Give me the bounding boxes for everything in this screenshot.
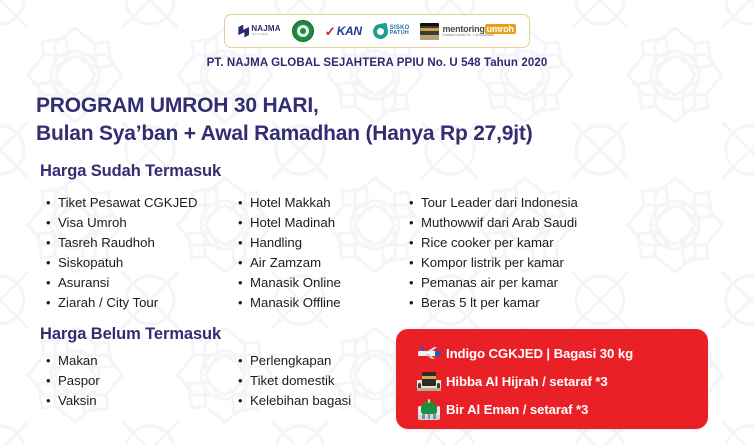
- list-item: Vaksin: [46, 391, 100, 411]
- siskopatuh-leaf-icon: [372, 22, 389, 39]
- highlight-row-makkah-hotel: Hibba Al Hijrah / setaraf *3: [396, 368, 708, 394]
- list-item: Air Zamzam: [238, 253, 341, 273]
- siskopatuh-line2: PATUH: [390, 31, 410, 37]
- list-item: Perlengkapan: [238, 351, 351, 371]
- included-column-3: Tour Leader dari Indonesia Muthowwif dar…: [409, 193, 578, 313]
- list-item: Visa Umroh: [46, 213, 198, 233]
- najma-logo: NAJMA Tour & Travel: [238, 19, 280, 43]
- list-item: Kelebihan bagasi: [238, 391, 351, 411]
- list-item: Manasik Online: [238, 273, 341, 293]
- kan-check-icon: ✓: [325, 25, 336, 38]
- kaaba-logo-icon: [420, 23, 439, 40]
- kemenag-logo: [292, 19, 314, 43]
- list-item: Beras 5 lt per kamar: [409, 293, 578, 313]
- list-item: Pemanas air per kamar: [409, 273, 578, 293]
- flyer-page: NAJMA Tour & Travel ✓ KAN SISKO PATUH: [0, 0, 754, 445]
- list-item: Muthowwif dari Arab Saudi: [409, 213, 578, 233]
- included-column-1: Tiket Pesawat CGKJED Visa Umroh Tasreh R…: [46, 193, 198, 313]
- siskopatuh-logo: SISKO PATUH: [373, 19, 410, 43]
- headline-line-1: PROGRAM UMROH 30 HARI,: [36, 92, 533, 120]
- list-item: Tasreh Raudhoh: [46, 233, 198, 253]
- excluded-column-2: Perlengkapan Tiket domestik Kelebihan ba…: [238, 351, 351, 411]
- highlight-text-madinah-hotel: Bir Al Eman / setaraf *3: [446, 402, 588, 417]
- list-item: Hotel Madinah: [238, 213, 341, 233]
- kan-logo-text: KAN: [337, 25, 362, 37]
- mentoring-umroh-logo: mentoringumroh Edukasi Umroh No. 1 di In…: [420, 19, 515, 43]
- kan-logo: ✓ KAN: [325, 19, 362, 43]
- page-title: PROGRAM UMROH 30 HARI, Bulan Sya’ban + A…: [36, 92, 533, 147]
- section-heading-included: Harga Sudah Termasuk: [40, 162, 221, 181]
- kemenag-badge-icon: [292, 20, 314, 42]
- included-column-2: Hotel Makkah Hotel Madinah Handling Air …: [238, 193, 341, 313]
- highlight-box: Indigo CGKJED | Bagasi 30 kg Hibba Al Hi…: [396, 329, 708, 429]
- highlight-text-makkah-hotel: Hibba Al Hijrah / setaraf *3: [446, 374, 608, 389]
- excluded-column-1: Makan Paspor Vaksin: [46, 351, 100, 411]
- headline-line-2: Bulan Sya’ban + Awal Ramadhan (Hanya Rp …: [36, 120, 533, 148]
- list-item: Rice cooker per kamar: [409, 233, 578, 253]
- list-item: Manasik Offline: [238, 293, 341, 313]
- list-item: Makan: [46, 351, 100, 371]
- najma-mark-icon: [238, 25, 249, 38]
- list-item: Tiket domestik: [238, 371, 351, 391]
- highlight-row-madinah-hotel: Bir Al Eman / setaraf *3: [396, 396, 708, 422]
- list-item: Hotel Makkah: [238, 193, 341, 213]
- list-item: Tour Leader dari Indonesia: [409, 193, 578, 213]
- certification-logo-bar: NAJMA Tour & Travel ✓ KAN SISKO PATUH: [0, 14, 754, 48]
- kaaba-icon: [412, 371, 446, 391]
- list-item: Ziarah / City Tour: [46, 293, 198, 313]
- list-item: Kompor listrik per kamar: [409, 253, 578, 273]
- mentoring-tagline: Edukasi Umroh No. 1 di Indonesia: [442, 34, 515, 37]
- list-item: Handling: [238, 233, 341, 253]
- list-item: Asuransi: [46, 273, 198, 293]
- section-heading-excluded: Harga Belum Termasuk: [40, 325, 221, 344]
- highlight-text-flight: Indigo CGKJED | Bagasi 30 kg: [446, 346, 633, 361]
- list-item: Paspor: [46, 371, 100, 391]
- najma-logo-subtext: Tour & Travel: [251, 34, 280, 37]
- list-item: Siskopatuh: [46, 253, 198, 273]
- mosque-dome-icon: [412, 399, 446, 420]
- highlight-row-flight: Indigo CGKJED | Bagasi 30 kg: [396, 340, 708, 366]
- airplane-icon: [412, 346, 446, 360]
- list-item: Tiket Pesawat CGKJED: [46, 193, 198, 213]
- company-legal-line: PT. NAJMA GLOBAL SEJAHTERA PPIU No. U 54…: [0, 57, 754, 69]
- najma-logo-text: NAJMA: [251, 25, 280, 33]
